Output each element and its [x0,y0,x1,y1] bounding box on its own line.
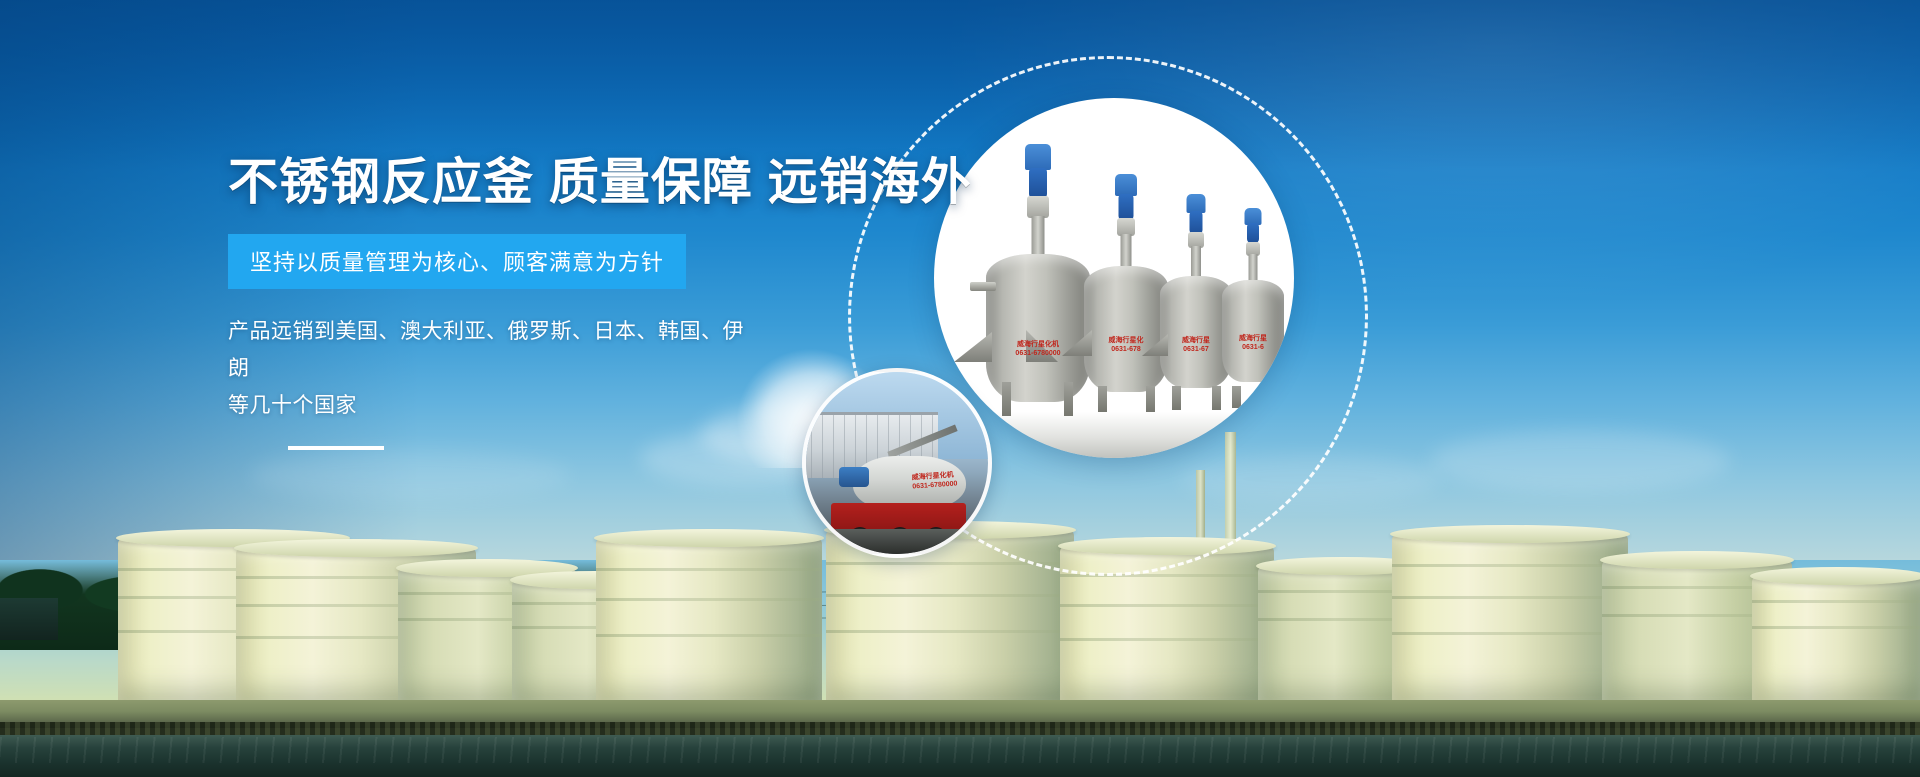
banner-description-line-2: 等几十个国家 [228,394,357,417]
storage-tank [1392,534,1628,702]
motor-icon [1119,194,1134,220]
inset-vessel-label: 威海行星化机 0631-6780000 [911,471,957,492]
banner-description: 产品远销到美国、澳大利亚、俄罗斯、日本、韩国、伊朗 等几十个国家 [228,314,748,424]
storage-tank [596,538,822,702]
gearbox-icon [1027,196,1049,218]
cloud [1430,430,1730,492]
reactor-leg [1098,386,1107,412]
shaft [1191,246,1201,280]
water-reflection [0,737,1920,763]
banner-headline: 不锈钢反应釜 质量保障 远销海外 [228,155,988,210]
reactor-leg [1172,386,1181,410]
reactor-leg [1266,386,1275,408]
reactor-leg [1146,386,1155,412]
reactor-leg [1002,382,1011,416]
seawall-piles [0,722,1920,736]
shed-building [0,598,58,640]
motor-icon [1190,211,1203,234]
reactor-vessel: 威海行星化 0631-678 [1084,174,1168,412]
product-photo-circle: 威海行星化机 0631-6780000 威海行星化 0631-678 [934,98,1294,458]
motor-icon [1029,168,1047,198]
motor-cap-icon [1115,174,1137,196]
inset-ground [806,529,988,554]
reactor-brand-label: 威海行星 0631-67 [1182,336,1210,355]
reactor-leg [1064,382,1073,416]
banner-divider-line [288,446,384,450]
reactor-body [1222,280,1284,382]
motor-cap-icon [1025,144,1051,170]
inset-motor-icon [839,467,869,487]
banner-description-line-1: 产品远销到美国、澳大利亚、俄罗斯、日本、韩国、伊朗 [228,320,744,380]
reactor-brand-label: 威海行星 0631-6 [1239,334,1267,353]
reactor-vessel: 威海行星化机 0631-6780000 [986,144,1090,416]
cloud [250,450,570,500]
motor-icon [1247,223,1259,243]
reactor-body [1084,266,1168,392]
hero-banner: 威海行星化机 0631-6780000 威海行星化 0631-678 [0,0,1920,777]
storage-tank [1752,576,1920,702]
banner-subtitle-badge: 坚持以质量管理为核心、顾客满意为方针 [228,234,686,289]
reactor-vessel: 威海行星 0631-6 [1222,208,1284,408]
reactor-body [986,254,1090,402]
reactor-leg [1212,386,1221,410]
reactor-brand-label: 威海行星化机 0631-6780000 [1015,340,1060,359]
reactor-brand-label: 威海行星化 0631-678 [1109,336,1144,355]
banner-text-block: 不锈钢反应釜 质量保障 远销海外 坚持以质量管理为核心、顾客满意为方针 产品远销… [228,155,988,450]
reactor-leg [1232,386,1241,408]
